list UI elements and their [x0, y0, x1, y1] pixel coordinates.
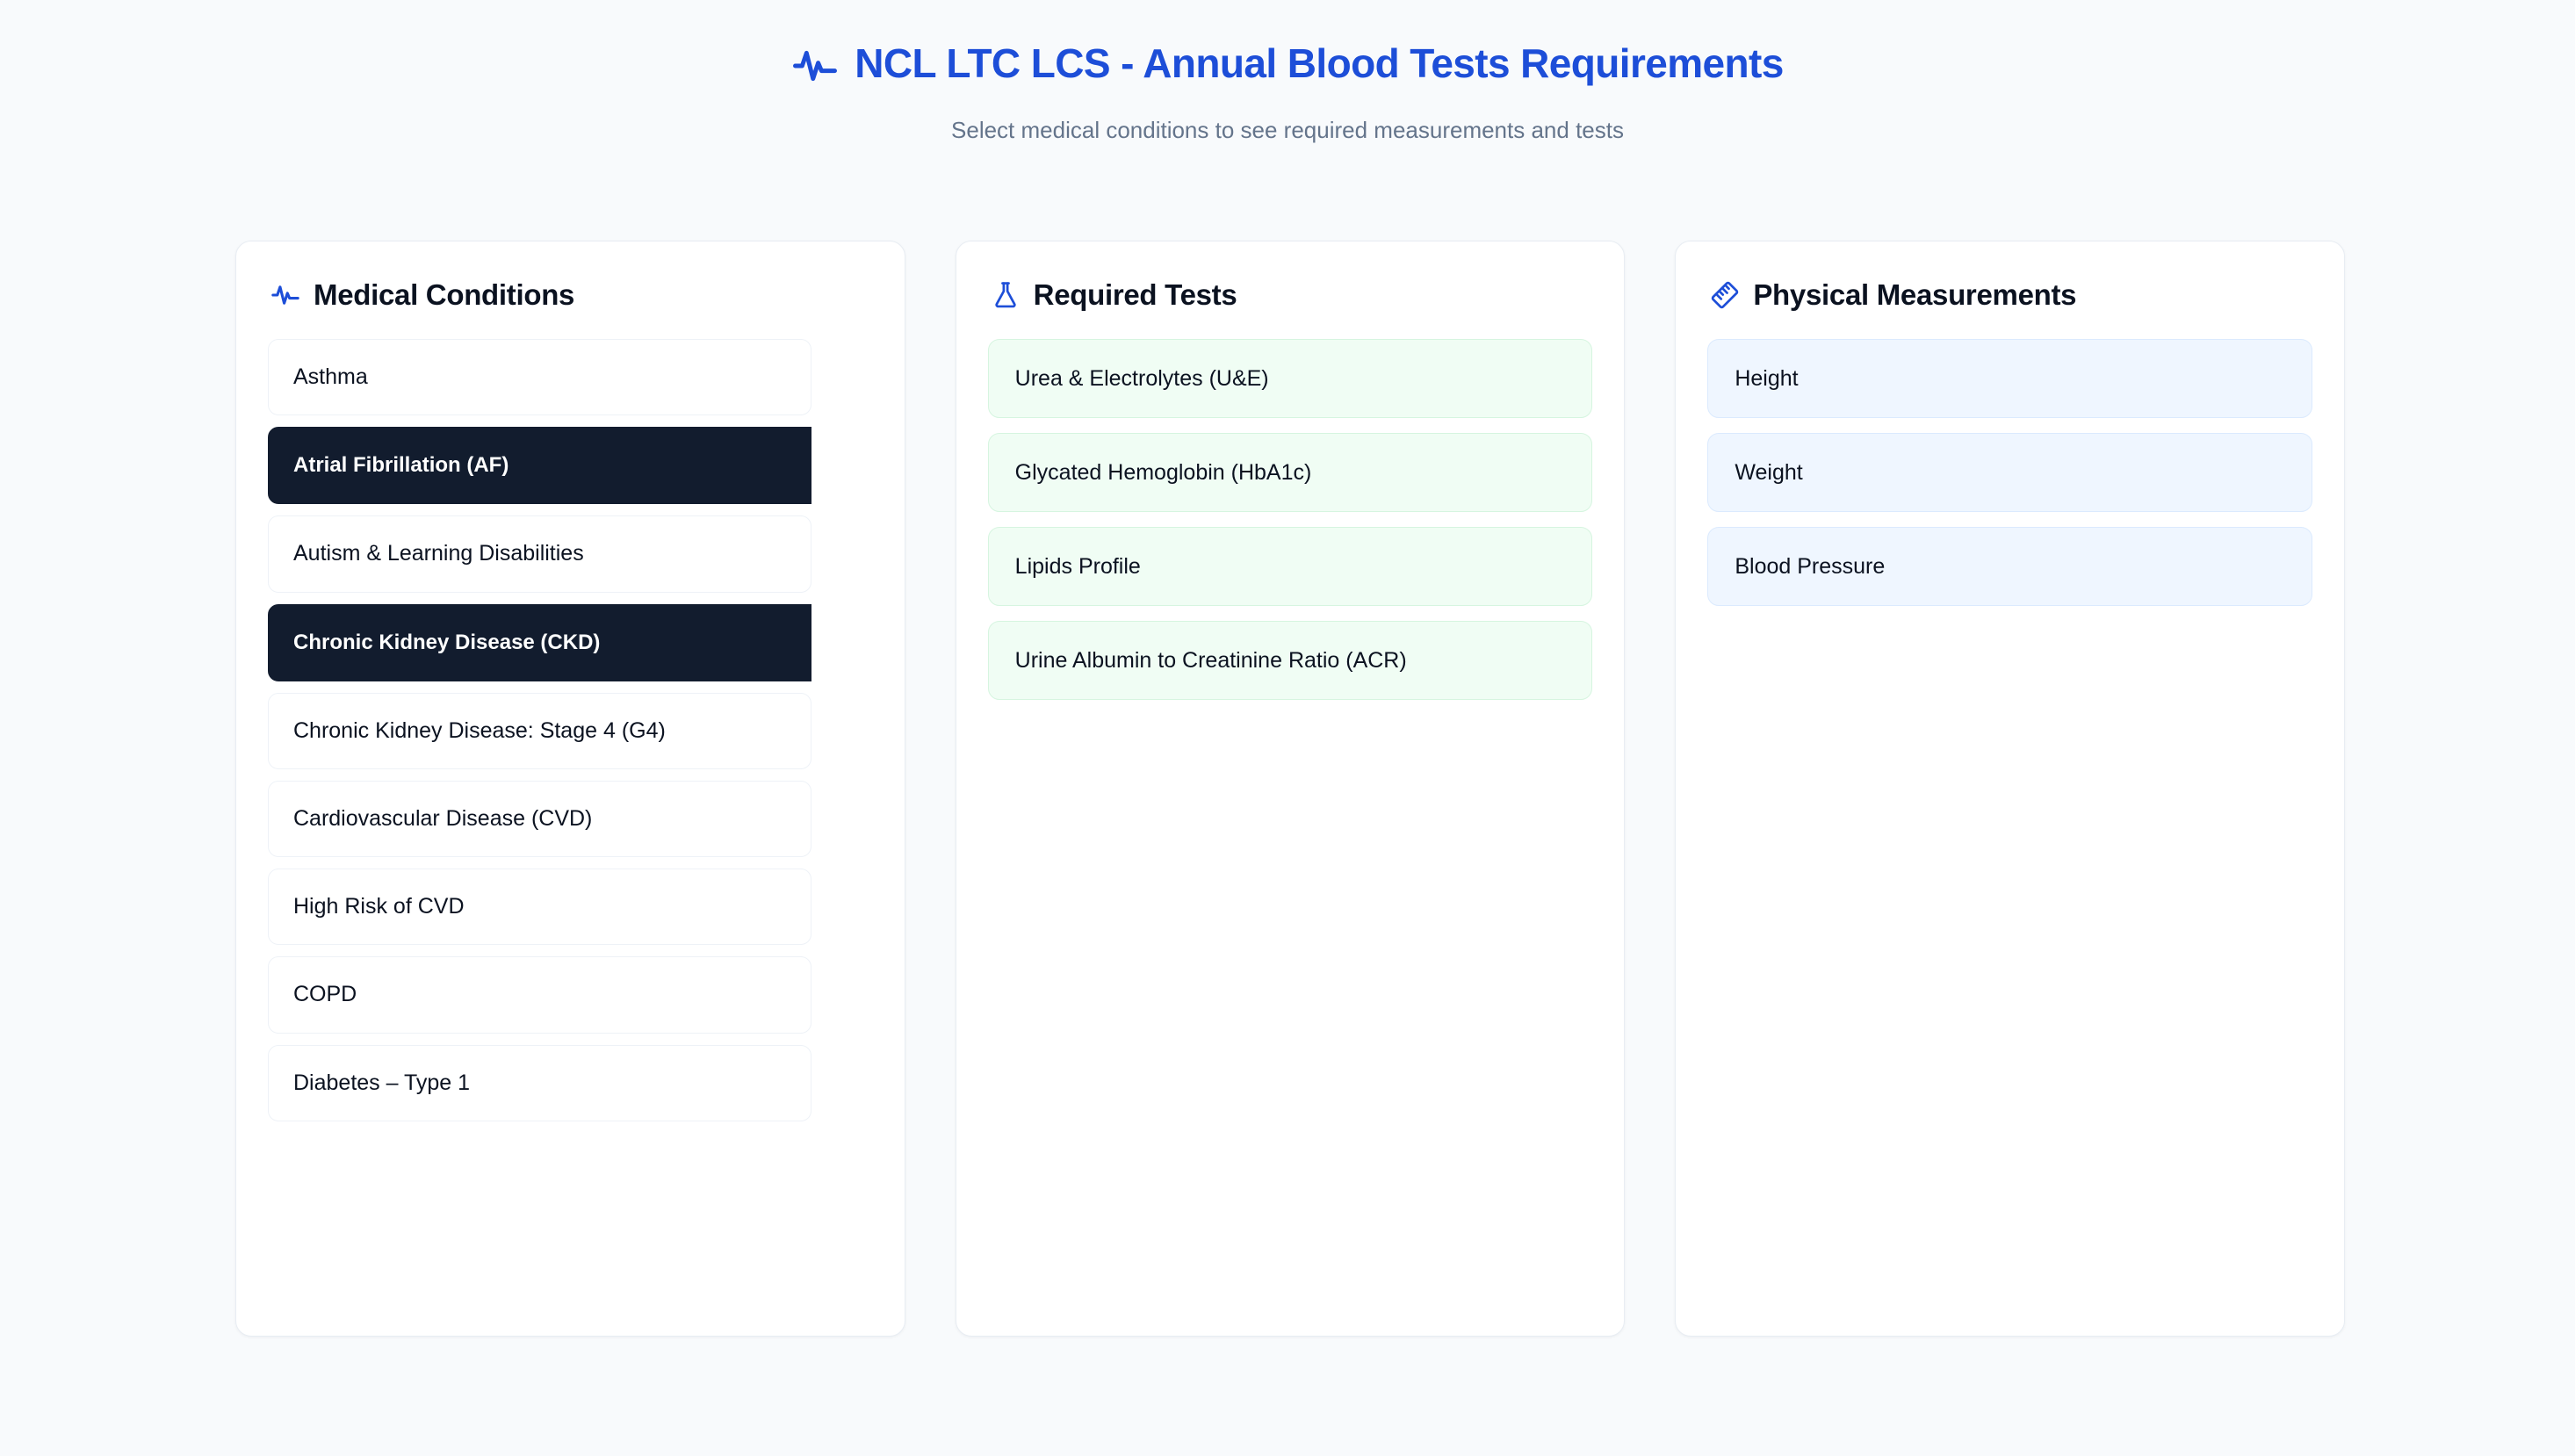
ruler-icon — [1710, 280, 1740, 310]
condition-item-high-risk-of-cvd[interactable]: High Risk of CVD — [268, 869, 811, 945]
physical-measurements-header: Physical Measurements — [1707, 278, 2312, 312]
measurement-item-weight[interactable]: Weight — [1707, 433, 2312, 512]
condition-label: Asthma — [293, 364, 368, 389]
required-tests-header: Required Tests — [988, 278, 1593, 312]
test-item-urine-albumin-creatinine-ratio[interactable]: Urine Albumin to Creatinine Ratio (ACR) — [988, 621, 1593, 700]
condition-label: Chronic Kidney Disease (CKD) — [293, 631, 600, 654]
activity-pulse-icon — [791, 42, 839, 90]
medical-conditions-header: Medical Conditions — [268, 278, 873, 312]
condition-item-chronic-kidney-disease[interactable]: Chronic Kidney Disease (CKD) — [268, 604, 811, 681]
physical-measurements-list: Height Weight Blood Pressure — [1707, 339, 2312, 1304]
test-item-glycated-hemoglobin[interactable]: Glycated Hemoglobin (HbA1c) — [988, 433, 1593, 512]
condition-item-atrial-fibrillation[interactable]: Atrial Fibrillation (AF) — [268, 427, 811, 504]
medical-conditions-panel: Medical Conditions Asthma Atrial Fibrill… — [235, 241, 905, 1337]
measurement-item-blood-pressure[interactable]: Blood Pressure — [1707, 527, 2312, 606]
condition-label: COPD — [293, 982, 357, 1006]
page-title: NCL LTC LCS - Annual Blood Tests Require… — [855, 41, 1783, 87]
measurement-label: Weight — [1735, 460, 1802, 485]
activity-pulse-icon — [270, 280, 300, 310]
required-tests-panel: Required Tests Urea & Electrolytes (U&E)… — [956, 241, 1626, 1337]
condition-label: Autism & Learning Disabilities — [293, 541, 584, 566]
test-label: Urine Albumin to Creatinine Ratio (ACR) — [1015, 648, 1407, 673]
test-item-urea-electrolytes[interactable]: Urea & Electrolytes (U&E) — [988, 339, 1593, 418]
condition-item-copd[interactable]: COPD — [268, 956, 811, 1033]
medical-conditions-scroll-area[interactable]: Asthma Atrial Fibrillation (AF) Autism &… — [268, 339, 811, 1304]
condition-label: High Risk of CVD — [293, 894, 465, 919]
measurement-item-height[interactable]: Height — [1707, 339, 2312, 418]
condition-item-ckd-stage-4[interactable]: Chronic Kidney Disease: Stage 4 (G4) — [268, 693, 811, 769]
condition-label: Cardiovascular Disease (CVD) — [293, 806, 592, 831]
condition-item-autism-learning-disabilities[interactable]: Autism & Learning Disabilities — [268, 515, 811, 592]
condition-label: Chronic Kidney Disease: Stage 4 (G4) — [293, 718, 666, 743]
page-subtitle: Select medical conditions to see require… — [0, 117, 2575, 144]
condition-item-asthma[interactable]: Asthma — [268, 339, 811, 415]
physical-measurements-title: Physical Measurements — [1753, 278, 2076, 312]
test-item-lipids-profile[interactable]: Lipids Profile — [988, 527, 1593, 606]
condition-item-diabetes-type-1[interactable]: Diabetes – Type 1 — [268, 1045, 811, 1121]
medical-conditions-list: Asthma Atrial Fibrillation (AF) Autism &… — [268, 339, 811, 1121]
title-row: NCL LTC LCS - Annual Blood Tests Require… — [0, 40, 2575, 88]
measurement-label: Blood Pressure — [1735, 554, 1885, 579]
flask-icon — [991, 280, 1021, 310]
condition-label: Atrial Fibrillation (AF) — [293, 453, 509, 477]
test-label: Urea & Electrolytes (U&E) — [1015, 366, 1269, 391]
page-header: NCL LTC LCS - Annual Blood Tests Require… — [0, 0, 2575, 144]
physical-measurements-panel: Physical Measurements Height Weight Bloo… — [1675, 241, 2345, 1337]
condition-item-cardiovascular-disease[interactable]: Cardiovascular Disease (CVD) — [268, 781, 811, 857]
measurement-label: Height — [1735, 366, 1798, 391]
medical-conditions-title: Medical Conditions — [314, 278, 574, 312]
condition-label: Diabetes – Type 1 — [293, 1070, 470, 1095]
test-label: Glycated Hemoglobin (HbA1c) — [1015, 460, 1312, 485]
required-tests-list: Urea & Electrolytes (U&E) Glycated Hemog… — [988, 339, 1593, 1304]
panels-container: Medical Conditions Asthma Atrial Fibrill… — [235, 241, 2345, 1337]
test-label: Lipids Profile — [1015, 554, 1141, 579]
required-tests-title: Required Tests — [1034, 278, 1237, 312]
